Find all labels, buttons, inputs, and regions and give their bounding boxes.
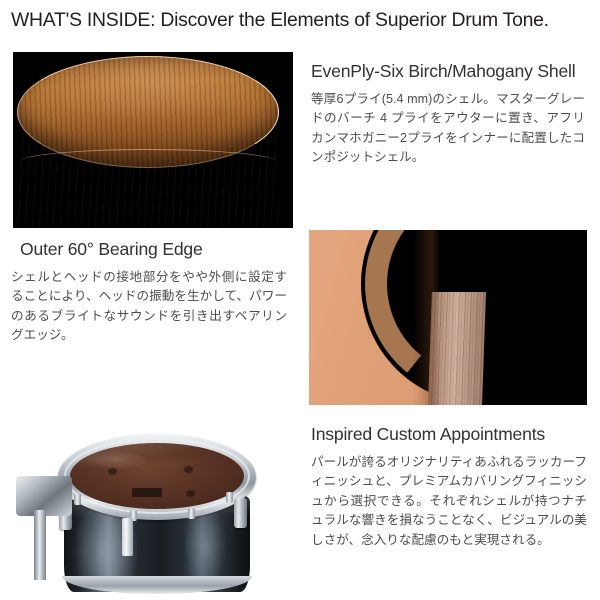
drum-shell-interior-photo	[13, 52, 293, 228]
drumhead-badge	[132, 488, 162, 497]
section-body-shell: 等厚6プライ(5.4 mm)のシェル。マスターグレードのバーチ 4 プライをアウ…	[311, 90, 585, 168]
section-heading-shell: EvenPly-Six Birch/Mahogany Shell	[311, 60, 575, 83]
drumhead-dot	[184, 466, 193, 473]
section-heading-appointments: Inspired Custom Appointments	[311, 423, 545, 446]
tom-drumhead-ring	[64, 438, 250, 514]
tom-lug	[234, 498, 247, 528]
shell-inner-lip	[19, 149, 277, 175]
tension-rod	[226, 492, 233, 503]
tension-rod	[188, 508, 195, 519]
section-heading-bearing-edge: Outer 60° Bearing Edge	[20, 238, 203, 261]
tom-hardware-clip	[122, 518, 133, 556]
bearing-edge-contact-shadow	[413, 230, 439, 405]
section-body-appointments: パールが誇るオリジナリティあふれるラッカーフィニッシュと、プレミアムカバリングフ…	[311, 453, 587, 550]
drumhead-dot	[186, 490, 195, 497]
section-body-bearing-edge: シェルとヘッドの接地部分をやや外側に設定することにより、ヘッドの振動を生かして、…	[11, 268, 287, 346]
bearing-edge-closeup-photo	[309, 230, 587, 405]
tension-rod	[74, 494, 81, 505]
product-feature-page: WHAT'S INSIDE: Discover the Elements of …	[0, 0, 600, 600]
chrome-tom-drum-photo	[12, 418, 290, 596]
tom-mount-arm	[34, 510, 46, 580]
page-title: WHAT'S INSIDE: Discover the Elements of …	[11, 7, 596, 33]
drumhead-dot	[108, 468, 117, 475]
